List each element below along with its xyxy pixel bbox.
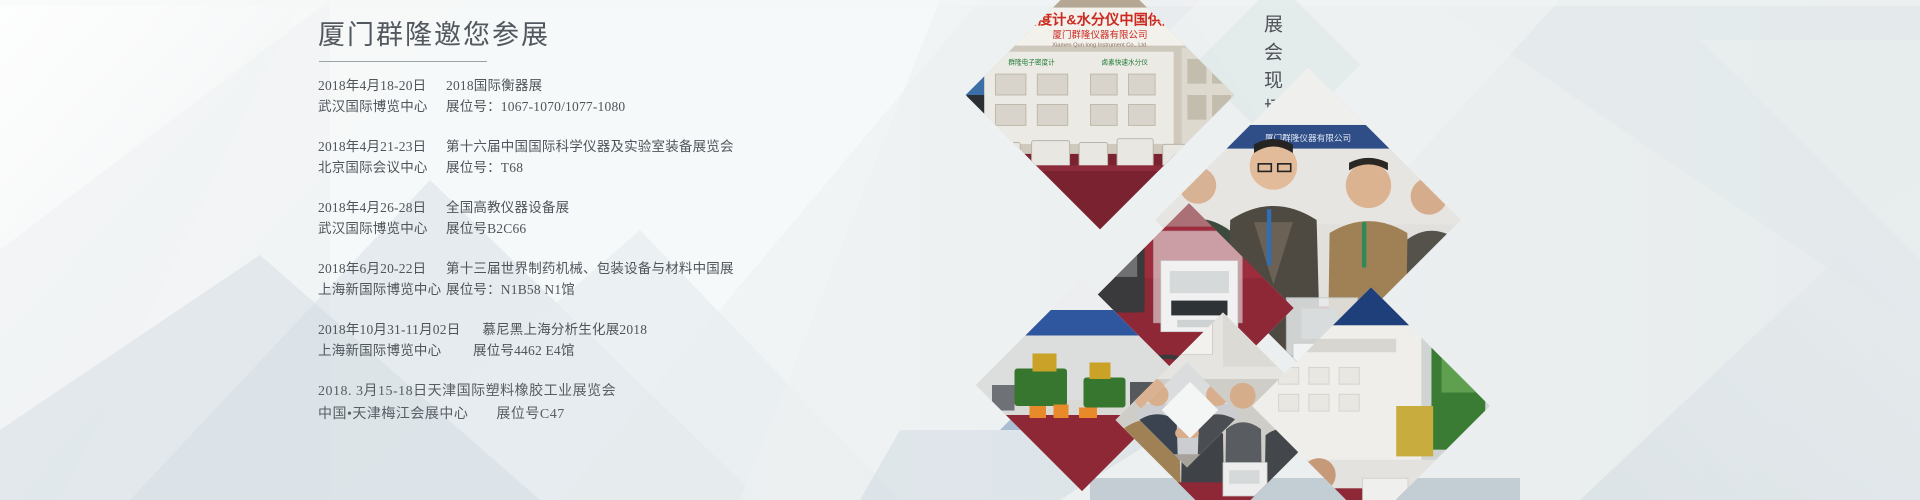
entry-name: 慕尼黑上海分析生化展2018 [482, 319, 647, 340]
entry-venue: 武汉国际博览中心 [318, 96, 446, 117]
schedule-entry-3: 2018年4月26-28日 全国高教仪器设备展 武汉国际博览中心 展位号B2C6… [318, 197, 938, 239]
schedule-entry-1: 2018年4月18-20日 2018国际衡器展 武汉国际博览中心 展位号：106… [318, 75, 938, 117]
schedule-entry-5: 2018年10月31-11月02日 慕尼黑上海分析生化展2018 上海新国际博览… [318, 319, 938, 361]
exhibition-banner: 厦门群隆邀您参展 2018年4月18-20日 2018国际衡器展 武汉国际博览中… [0, 0, 1920, 500]
entry-name: 第十三届世界制药机械、包装设备与材料中国展 [446, 258, 734, 279]
entry-booth: 展位号C47 [496, 403, 564, 426]
entry-date: 2018年4月26-28日 [318, 197, 446, 218]
schedule-entry-6: 2018. 3月15-18日天津国际塑料橡胶工业展览会 中国•天津梅江会展中心 … [318, 380, 938, 426]
svg-text:3nGKT: 3nGKT [1421, 298, 1466, 313]
svg-text:N1B58: N1B58 [1000, 319, 1028, 329]
entry-line-venue: 武汉国际博览中心 展位号B2C66 [318, 218, 938, 239]
svg-text:厦门群隆仪器有限公司: 厦门群隆仪器有限公司 [1052, 29, 1147, 41]
entry-venue: 上海新国际博览中心 [318, 340, 473, 361]
entry-line-venue: 上海新国际博览中心 展位号4462 E4馆 [318, 340, 938, 361]
svg-text:卤素快速水分仪: 卤素快速水分仪 [1101, 58, 1148, 67]
entry-date: 2018年6月20-22日 [318, 258, 446, 279]
schedule-entry-4: 2018年6月20-22日 第十三届世界制药机械、包装设备与材料中国展 上海新国… [318, 258, 938, 300]
entry-line-date: 2018年10月31-11月02日 慕尼黑上海分析生化展2018 [318, 319, 938, 340]
entry-line-date: 2018年4月21-23日 第十六届中国国际科学仪器及实验室装备展览会 [318, 136, 938, 157]
svg-text:群隆电子密度计: 群隆电子密度计 [1008, 58, 1055, 67]
entry-date: 2018年10月31-11月02日 [318, 319, 460, 340]
entry-booth: 展位号：T68 [446, 157, 523, 178]
photo-collage: 密度计&水分仪中国供应 厦门群隆仪器有限公司 Xiamen Qun long I… [1015, 0, 1535, 500]
entry-booth: 展位号B2C66 [446, 218, 526, 239]
entry-line-date: 2018年4月26-28日 全国高教仪器设备展 [318, 197, 938, 218]
entry-line-venue: 武汉国际博览中心 展位号：1067-1070/1077-1080 [318, 96, 938, 117]
entry-line-venue: 北京国际会议中心 展位号：T68 [318, 157, 938, 178]
page-title: 厦门群隆邀您参展 [318, 18, 938, 60]
entry-venue: 武汉国际博览中心 [318, 218, 446, 239]
entry-booth: 展位号：1067-1070/1077-1080 [446, 96, 625, 117]
exhibition-schedule: 厦门群隆邀您参展 2018年4月18-20日 2018国际衡器展 武汉国际博览中… [318, 18, 938, 488]
background-polygons [0, 0, 1920, 500]
entry-date: 2018. 3月15-18日天津国际塑料橡胶工业展览会 [318, 380, 616, 403]
entry-venue: 北京国际会议中心 [318, 157, 446, 178]
entry-line-date: 2018年4月18-20日 2018国际衡器展 [318, 75, 938, 96]
entry-date: 2018年4月18-20日 [318, 75, 446, 96]
svg-text:Xiamen Qun long Instrument Co.: Xiamen Qun long Instrument Co., Ltd. [1052, 43, 1148, 49]
background-decoration [0, 0, 1920, 500]
entry-booth: 展位号4462 E4馆 [473, 340, 575, 361]
entry-venue: 上海新国际博览中心 [318, 279, 446, 300]
entry-name: 第十六届中国国际科学仪器及实验室装备展览会 [446, 136, 734, 157]
entry-line-date: 2018. 3月15-18日天津国际塑料橡胶工业展览会 [318, 380, 938, 403]
entry-line-venue: 上海新国际博览中心 展位号：N1B58 N1馆 [318, 279, 938, 300]
entry-name: 全国高教仪器设备展 [446, 197, 569, 218]
title-underline [319, 61, 487, 62]
entry-line-venue: 中国•天津梅江会展中心 展位号C47 [318, 403, 938, 426]
entry-line-date: 2018年6月20-22日 第十三届世界制药机械、包装设备与材料中国展 [318, 258, 938, 279]
entry-name: 2018国际衡器展 [446, 75, 542, 96]
entry-venue: 中国•天津梅江会展中心 [318, 403, 468, 426]
entry-booth: 展位号：N1B58 N1馆 [446, 279, 575, 300]
entry-date: 2018年4月21-23日 [318, 136, 446, 157]
svg-text:密度计&水分仪中国供应: 密度计&水分仪中国供应 [1024, 11, 1177, 29]
schedule-entry-2: 2018年4月21-23日 第十六届中国国际科学仪器及实验室装备展览会 北京国际… [318, 136, 938, 178]
